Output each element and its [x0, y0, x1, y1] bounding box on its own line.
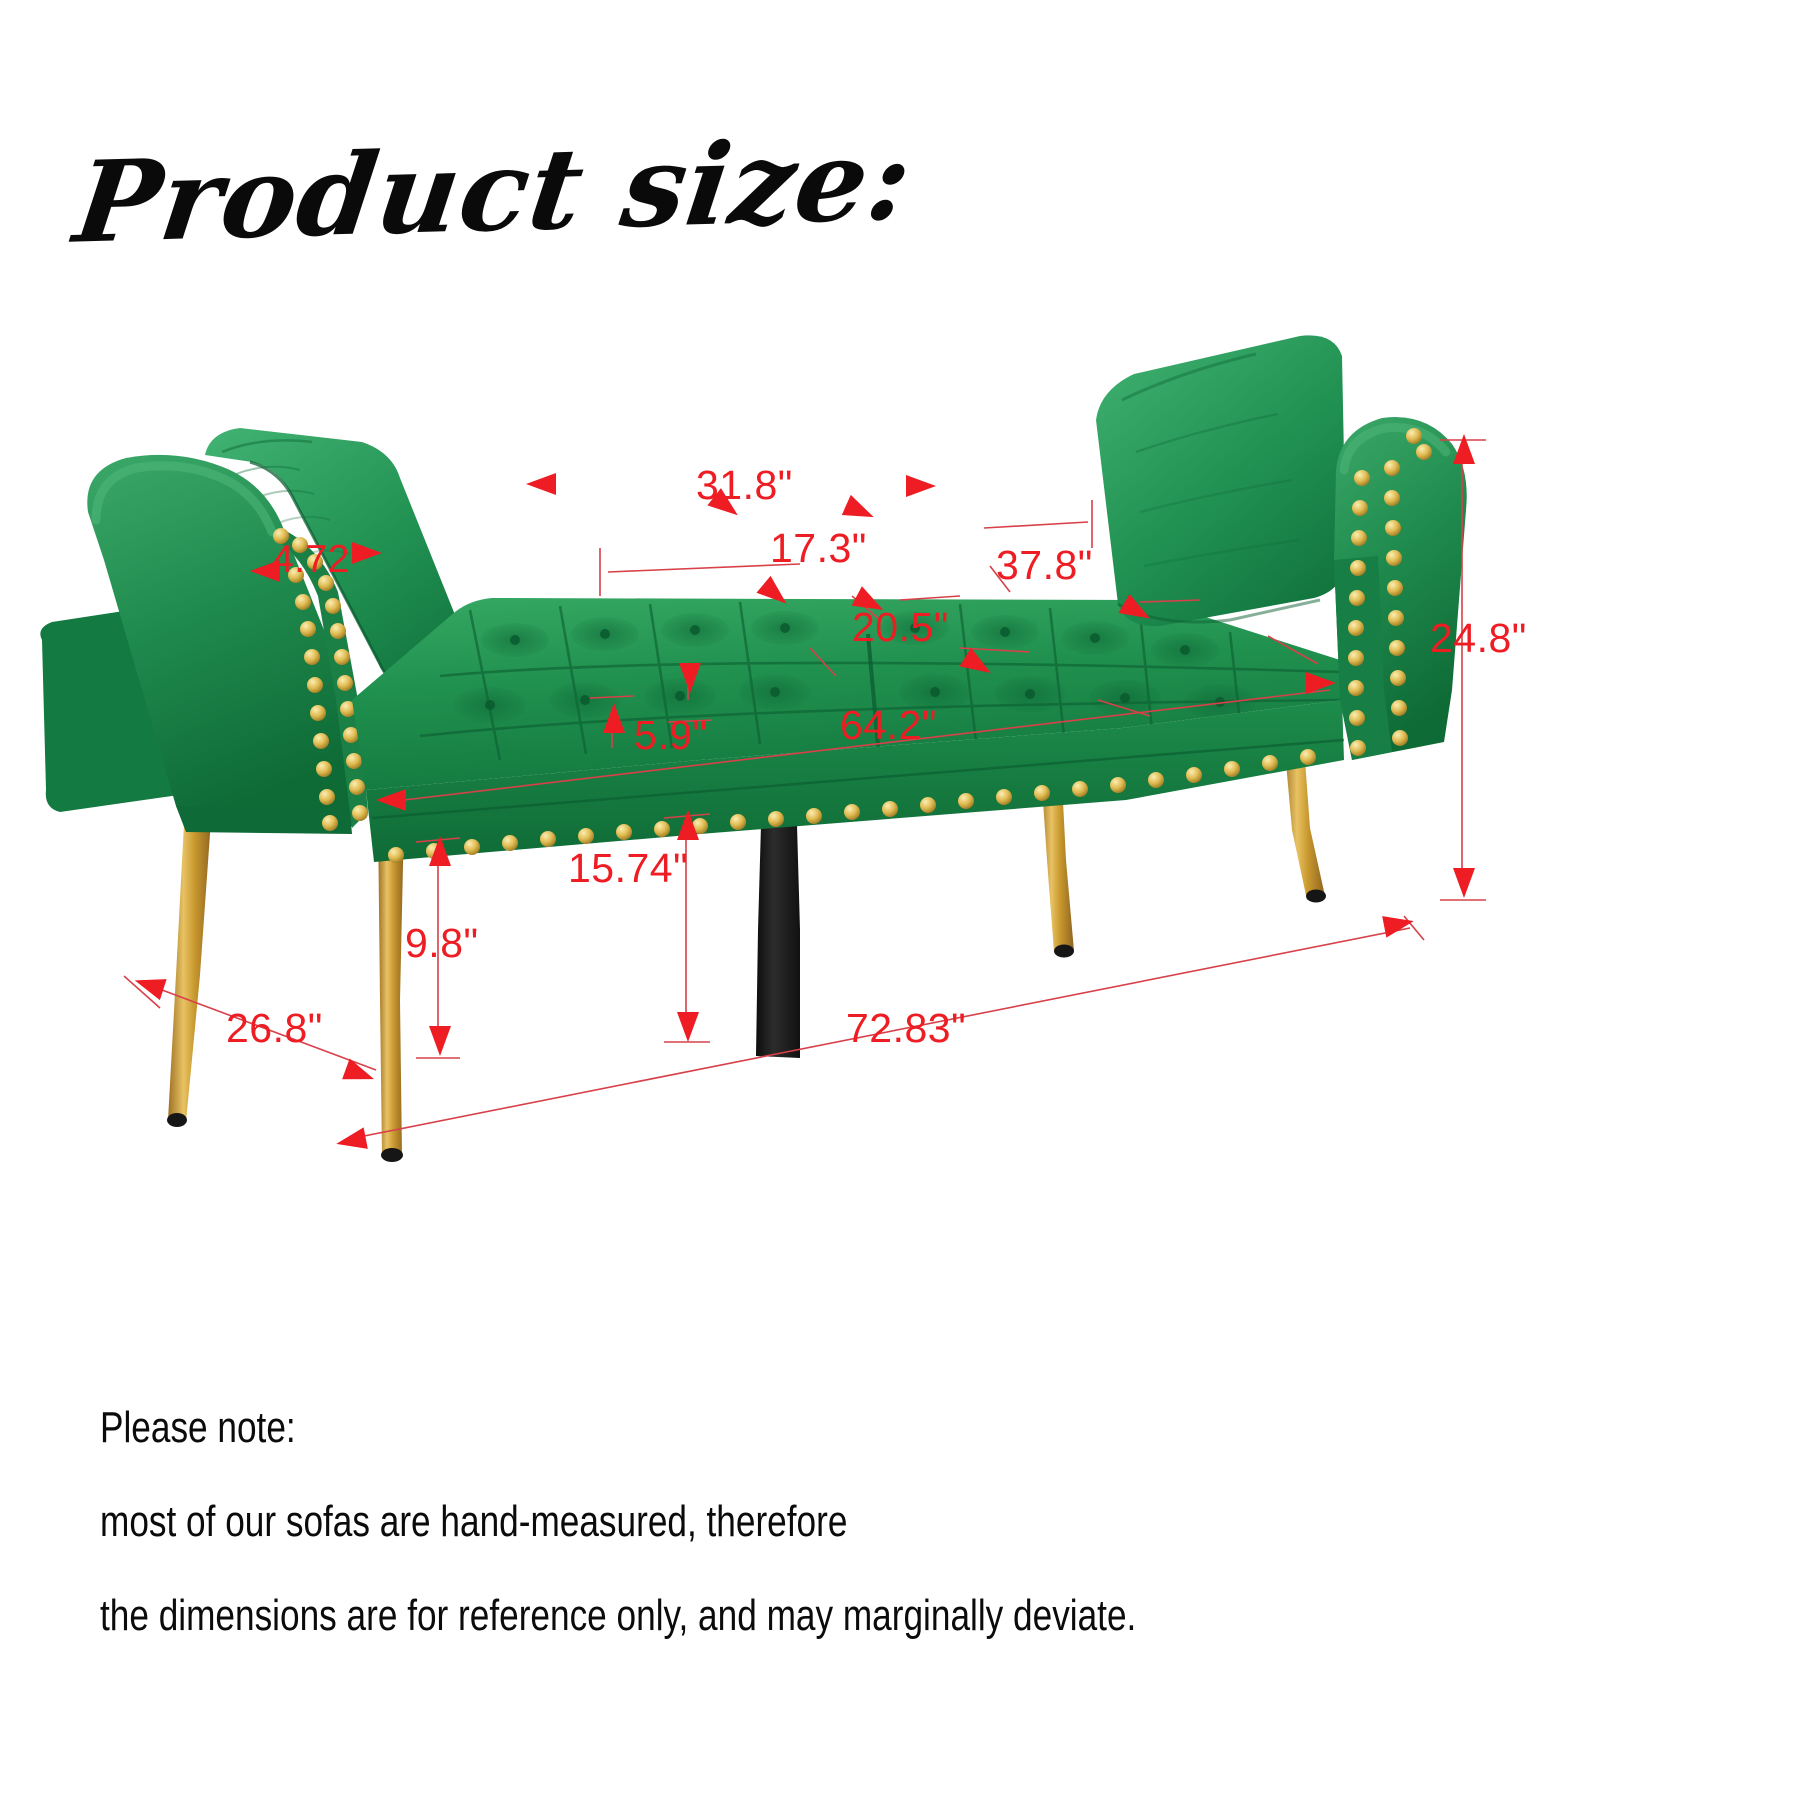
arrowhead-26-8-right — [342, 1059, 378, 1090]
page-title: Product size: — [68, 114, 920, 268]
dimension-label-overall-length: 72.83" — [846, 1005, 966, 1052]
note-line-2: most of our sofas are hand-measured, the… — [100, 1497, 847, 1547]
product-size-diagram: Product size: — [0, 0, 1800, 1800]
arrowhead-31-8-right — [906, 475, 936, 497]
dimension-label-overall-depth: 26.8" — [226, 1005, 323, 1052]
arrowhead-31-8-in-right — [842, 495, 878, 527]
dimension-label-back-width: 37.8" — [996, 542, 1093, 589]
arrowhead-20-5-left — [959, 648, 996, 683]
arrowhead-26-8-left — [131, 970, 166, 1000]
dimension-label-cushion-thickness: 5.9" — [634, 712, 708, 759]
note-heading: Please note: — [100, 1403, 296, 1453]
dimension-label-mid-width: 17.3" — [770, 525, 867, 572]
sofa-legs — [167, 718, 1326, 1162]
arrowhead-24-8-down — [1453, 868, 1475, 898]
dimension-label-seat-height: 15.74" — [568, 845, 688, 892]
arrowhead-9-8-up — [429, 836, 451, 866]
arrowhead-9-8-down — [429, 1026, 451, 1056]
arrowhead-15-74-up — [677, 810, 699, 840]
right-arm — [1334, 417, 1467, 760]
dimension-label-seat-depth: 20.5" — [852, 604, 949, 651]
dimension-label-leg-height: 9.8" — [405, 920, 479, 967]
arrowhead-5-9-down — [679, 663, 701, 693]
arrowhead-64-2-left — [376, 789, 406, 811]
left-arm-far — [40, 600, 214, 812]
right-pillow — [1096, 335, 1346, 626]
arrowhead-72-83-right — [1382, 910, 1416, 937]
dimension-label-arm-roll: 4.72" — [272, 538, 364, 582]
arrowhead-5-9-up — [603, 703, 625, 733]
dimension-label-platform-length: 64.2" — [840, 702, 937, 749]
arrowhead-17-3-left — [756, 576, 793, 612]
nailhead-trim-right-arm — [1348, 428, 1432, 756]
arrowhead-31-8-left — [526, 473, 556, 495]
note-line-3: the dimensions are for reference only, a… — [100, 1591, 1136, 1641]
arrowhead-24-8-up — [1453, 434, 1475, 464]
arrowhead-37-8-right — [1119, 594, 1156, 628]
dimension-label-overall-height: 24.8" — [1430, 615, 1527, 662]
center-support-leg — [756, 790, 800, 1058]
arrowhead-64-2-right — [1306, 672, 1336, 694]
dimension-label-front-width: 31.8" — [696, 462, 793, 509]
arrowhead-15-74-down — [677, 1012, 699, 1042]
seat-platform — [352, 598, 1342, 790]
arrowhead-72-83-left — [334, 1127, 368, 1154]
left-arm-near — [87, 455, 368, 834]
nailhead-trim-apron — [388, 749, 1316, 863]
